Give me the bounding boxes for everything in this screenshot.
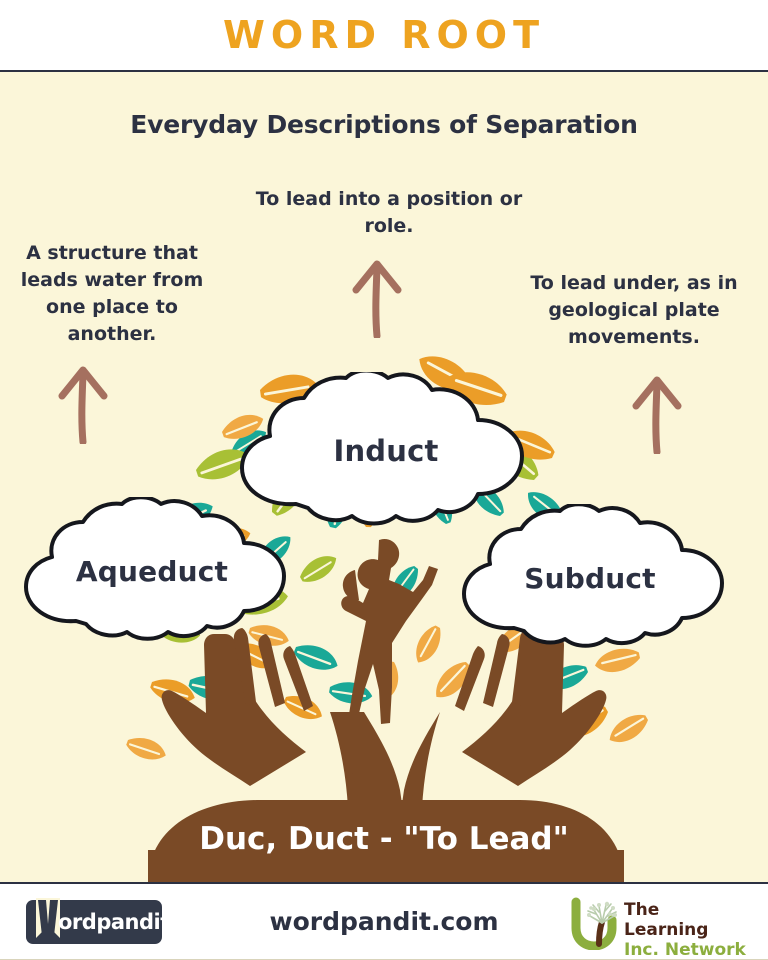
cloud-label-aqueduct: Aqueduct — [76, 555, 228, 588]
cloud-bubble-aqueduct[interactable]: Aqueduct — [14, 497, 294, 645]
partner-line-1: The Learning — [624, 900, 746, 940]
footer-bar: ordpandit wordpandit.com — [0, 882, 768, 960]
partner-logo[interactable]: The Learning Inc. Network — [566, 896, 746, 950]
infographic-poster: WORD ROOT Everyday Descriptions of Separ… — [0, 0, 768, 960]
arrow-up-icon-right — [626, 370, 688, 459]
child-silhouette-icon — [341, 539, 438, 724]
main-stage: Everyday Descriptions of Separation — [0, 72, 768, 882]
description-subduct: To lead under, as in geological plate mo… — [516, 270, 752, 351]
cloud-label-subduct: Subduct — [524, 562, 656, 595]
arrow-up-icon-left — [52, 360, 114, 449]
root-banner: Duc, Duct - "To Lead" — [0, 790, 768, 882]
partner-line-2: Inc. Network — [624, 940, 746, 960]
partner-logo-text: The Learning Inc. Network — [624, 900, 746, 960]
arrow-up-icon-center — [346, 254, 408, 343]
cloud-label-induct: Induct — [333, 434, 438, 468]
header-bar: WORD ROOT — [0, 0, 768, 72]
description-induct: To lead into a position or role. — [244, 186, 534, 240]
cloud-bubble-subduct[interactable]: Subduct — [452, 504, 732, 652]
page-title: WORD ROOT — [223, 13, 545, 57]
description-aqueduct: A structure that leads water from one pl… — [2, 240, 222, 348]
root-banner-label: Duc, Duct - "To Lead" — [199, 821, 569, 857]
